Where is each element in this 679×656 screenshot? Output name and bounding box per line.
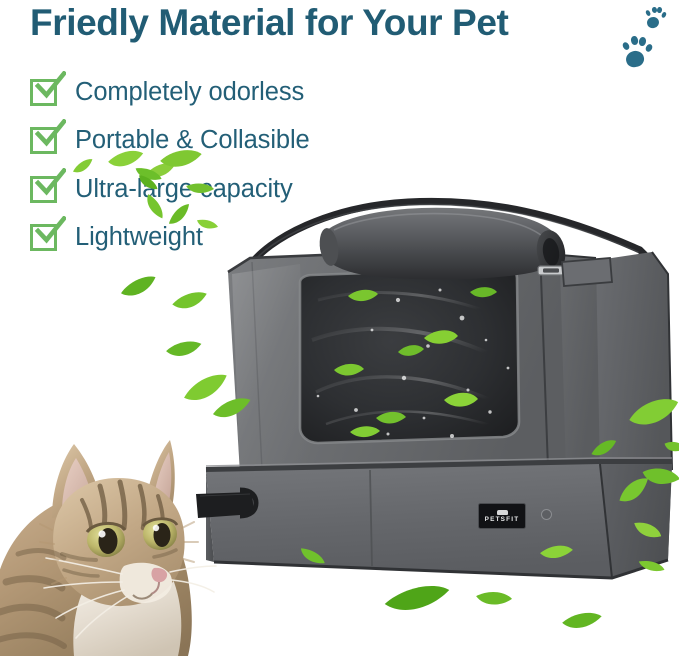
rolled-top-flap (317, 208, 568, 280)
mesh-window (300, 268, 519, 443)
flap-anchor-tab (562, 258, 612, 286)
product-feature-banner: Friedly Material for Your Pet Completely… (0, 0, 679, 656)
base-compartment (206, 464, 672, 578)
vent-grommet-icon (541, 509, 552, 520)
petsfit-logo-icon (497, 510, 508, 515)
brand-name: PETSFIT (485, 516, 520, 523)
tabby-cat-image (0, 382, 228, 656)
cat-eye-left (87, 523, 125, 557)
brand-label-patch: PETSFIT (478, 503, 526, 529)
cat-eye-right (143, 518, 177, 550)
